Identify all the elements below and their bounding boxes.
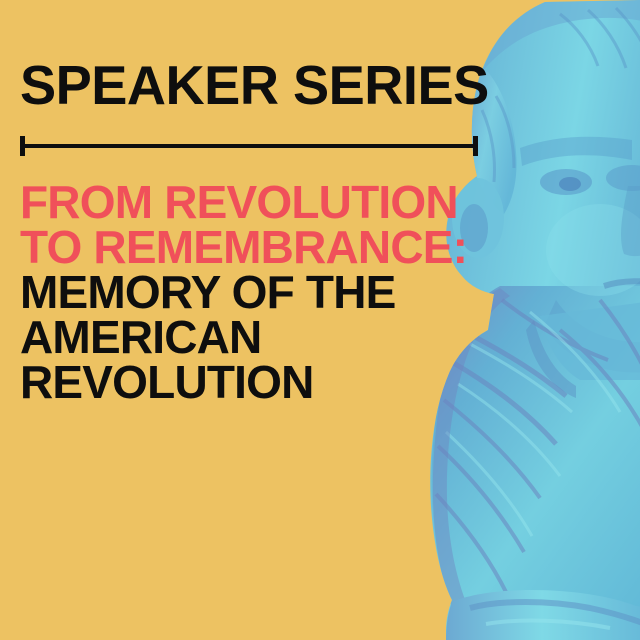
headline-dark-line-2: AMERICAN [20,315,490,360]
pedestal-edge [470,602,640,630]
divider-bar [20,144,478,148]
left-iris-shadow [559,177,581,191]
brow-ridge [520,137,632,166]
speaker-series-poster: SPEAKER SERIES FROM REVOLUTION TO REMEMB… [0,0,640,640]
mouth-line [604,281,640,286]
crown-shadow [482,0,640,72]
neck-shadow [526,320,576,398]
divider-right-cap [473,136,478,156]
pedestal [446,590,640,640]
jaw-shadow [544,300,640,373]
nose-shadow [621,186,640,256]
headline-accent-line-2: TO REMEMBRANCE: [20,225,490,270]
left-eye-socket [540,169,592,195]
right-eye-socket [606,165,640,191]
neck [540,300,640,380]
headline-dark: MEMORY OF THE AMERICAN REVOLUTION [20,270,490,405]
headline-dark-line-1: MEMORY OF THE [20,270,490,315]
headline-accent: FROM REVOLUTION TO REMEMBRANCE: [20,180,490,270]
eyebrow-speaker-series: SPEAKER SERIES [20,56,483,114]
headline-accent-line-1: FROM REVOLUTION [20,180,490,225]
headline-dark-line-3: REVOLUTION [20,360,490,405]
poster-text-block: SPEAKER SERIES FROM REVOLUTION TO REMEMB… [20,56,490,405]
pedestal-highlight [486,621,610,628]
hair-strokes [482,8,640,182]
cheek-highlight [546,204,640,296]
page-title: FROM REVOLUTION TO REMEMBRANCE: MEMORY O… [20,180,490,405]
divider [20,136,478,156]
